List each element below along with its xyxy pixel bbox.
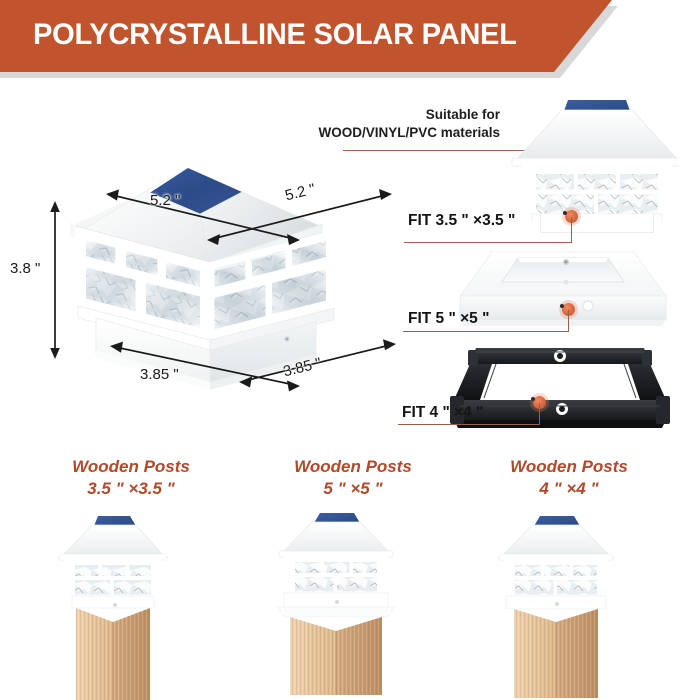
wooden-post-illustration-1 [52, 510, 202, 700]
part-solar-post-cap [500, 96, 679, 221]
part-black-adapter-frame [440, 338, 679, 438]
post-caption-3-line1: Wooden Posts [474, 456, 664, 478]
dimension-label-height: 3.8 " [10, 260, 40, 277]
post-caption-2-line2: 5 " ×5 " [258, 478, 448, 500]
wooden-post-illustration-2 [268, 505, 438, 695]
fit-label-4: FIT 4 " ×4 " [402, 404, 483, 422]
post-caption-1-line1: Wooden Posts [36, 456, 226, 478]
connector-line-h-fit-4 [398, 424, 540, 425]
wooden-post-illustration-3 [492, 508, 652, 698]
dimension-arrow-height [42, 200, 68, 360]
post-caption-2-line1: Wooden Posts [258, 456, 448, 478]
header-banner: POLYCRYSTALLINE SOLAR PANEL [0, 0, 679, 80]
suitable-note-line1: Suitable for [300, 106, 500, 123]
part-white-adapter-plate [448, 244, 678, 344]
post-caption-1-line2: 3.5 " ×3.5 " [36, 478, 226, 500]
dimension-label-base-left: 3.85 " [140, 366, 179, 383]
connector-line-v-fit-5 [568, 310, 569, 332]
part1-pedestal [540, 214, 654, 233]
fit-label-5: FIT 5 " ×5 " [408, 310, 489, 328]
suitable-note-line2: WOOD/VINYL/PVC materials [270, 124, 500, 141]
connector-line-v-fit-35 [571, 217, 572, 243]
fit-label-3-5: FIT 3.5 " ×3.5 " [408, 212, 515, 230]
connector-line-h-fit-5 [403, 331, 569, 332]
infographic-canvas: POLYCRYSTALLINE SOLAR PANEL [0, 0, 679, 700]
connector-line-v-fit-4 [539, 403, 540, 425]
dimension-label-top-left: 5.2 " [150, 192, 180, 209]
post-caption-3-line2: 4 " ×4 " [474, 478, 664, 500]
page-title: POLYCRYSTALLINE SOLAR PANEL [33, 18, 517, 52]
